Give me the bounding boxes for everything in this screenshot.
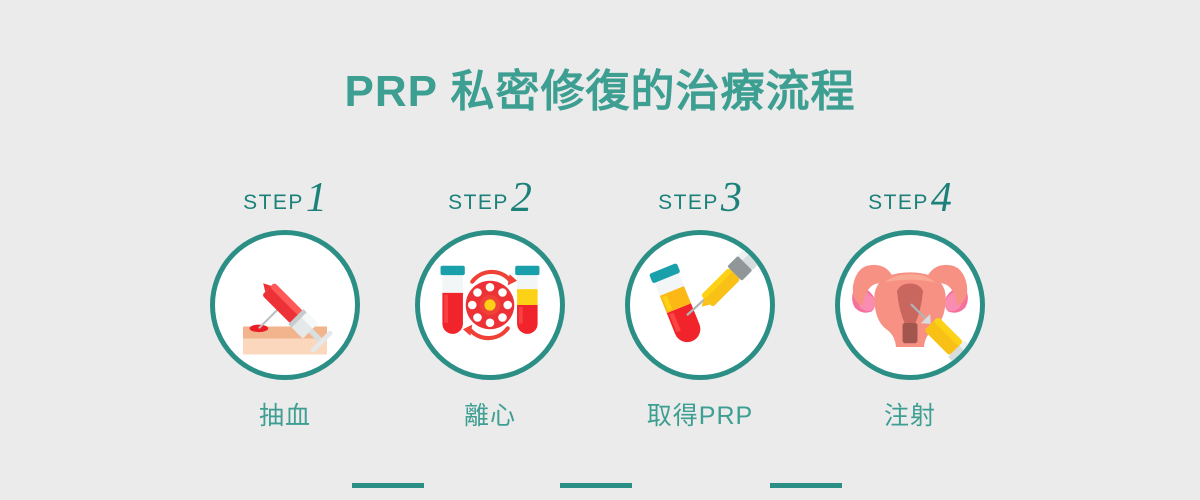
step-4-circle xyxy=(835,230,985,380)
connector-line-3-4 xyxy=(770,483,842,488)
step-2-label: STEP 2 xyxy=(390,170,590,216)
step-1: STEP 1 xyxy=(185,170,385,432)
page-title: PRP 私密修復的治療流程 xyxy=(0,68,1200,116)
step-1-circle xyxy=(210,230,360,380)
cervix xyxy=(903,323,918,344)
step-3-word: STEP xyxy=(658,192,719,213)
prp-treatment-flow-infographic: PRP 私密修復的治療流程 STEP 1 xyxy=(0,0,1200,500)
step-1-label: STEP 1 xyxy=(185,170,385,216)
blood-tube-left xyxy=(441,266,465,334)
step-3-number: 3 xyxy=(721,177,742,219)
syringe-drawing-blood-icon xyxy=(215,235,355,375)
step-3-label: STEP 3 xyxy=(600,170,800,216)
centrifuge-rotor xyxy=(466,281,515,330)
arrow-head-bottom xyxy=(463,325,472,336)
step-2-circle xyxy=(415,230,565,380)
blood-tube-right xyxy=(515,266,539,334)
uterus-injection-icon xyxy=(840,235,980,375)
arrow-head-top xyxy=(508,274,517,285)
step-3: STEP 3 xyxy=(600,170,800,432)
plasma-extraction-syringe-icon xyxy=(630,235,770,375)
step-1-caption: 抽血 xyxy=(185,396,385,432)
step-2-word: STEP xyxy=(448,192,509,213)
step-4-label: STEP 4 xyxy=(810,170,1010,216)
step-4: STEP 4 xyxy=(810,170,1010,432)
step-1-word: STEP xyxy=(243,192,304,213)
step-4-caption: 注射 xyxy=(810,396,1010,432)
step-2-caption: 離心 xyxy=(390,396,590,432)
step-2: STEP 2 xyxy=(390,170,590,432)
connector-line-1-2 xyxy=(352,483,424,488)
step-2-number: 2 xyxy=(511,177,532,219)
step-3-circle xyxy=(625,230,775,380)
step-4-word: STEP xyxy=(868,192,929,213)
steps-flow: STEP 1 xyxy=(0,170,1200,460)
step-3-caption: 取得PRP xyxy=(600,396,800,432)
step-1-number: 1 xyxy=(306,177,327,219)
step-4-number: 4 xyxy=(931,177,952,219)
connector-line-2-3 xyxy=(560,483,632,488)
plasma-syringe xyxy=(692,235,770,317)
centrifuge-tubes-icon xyxy=(420,235,560,375)
